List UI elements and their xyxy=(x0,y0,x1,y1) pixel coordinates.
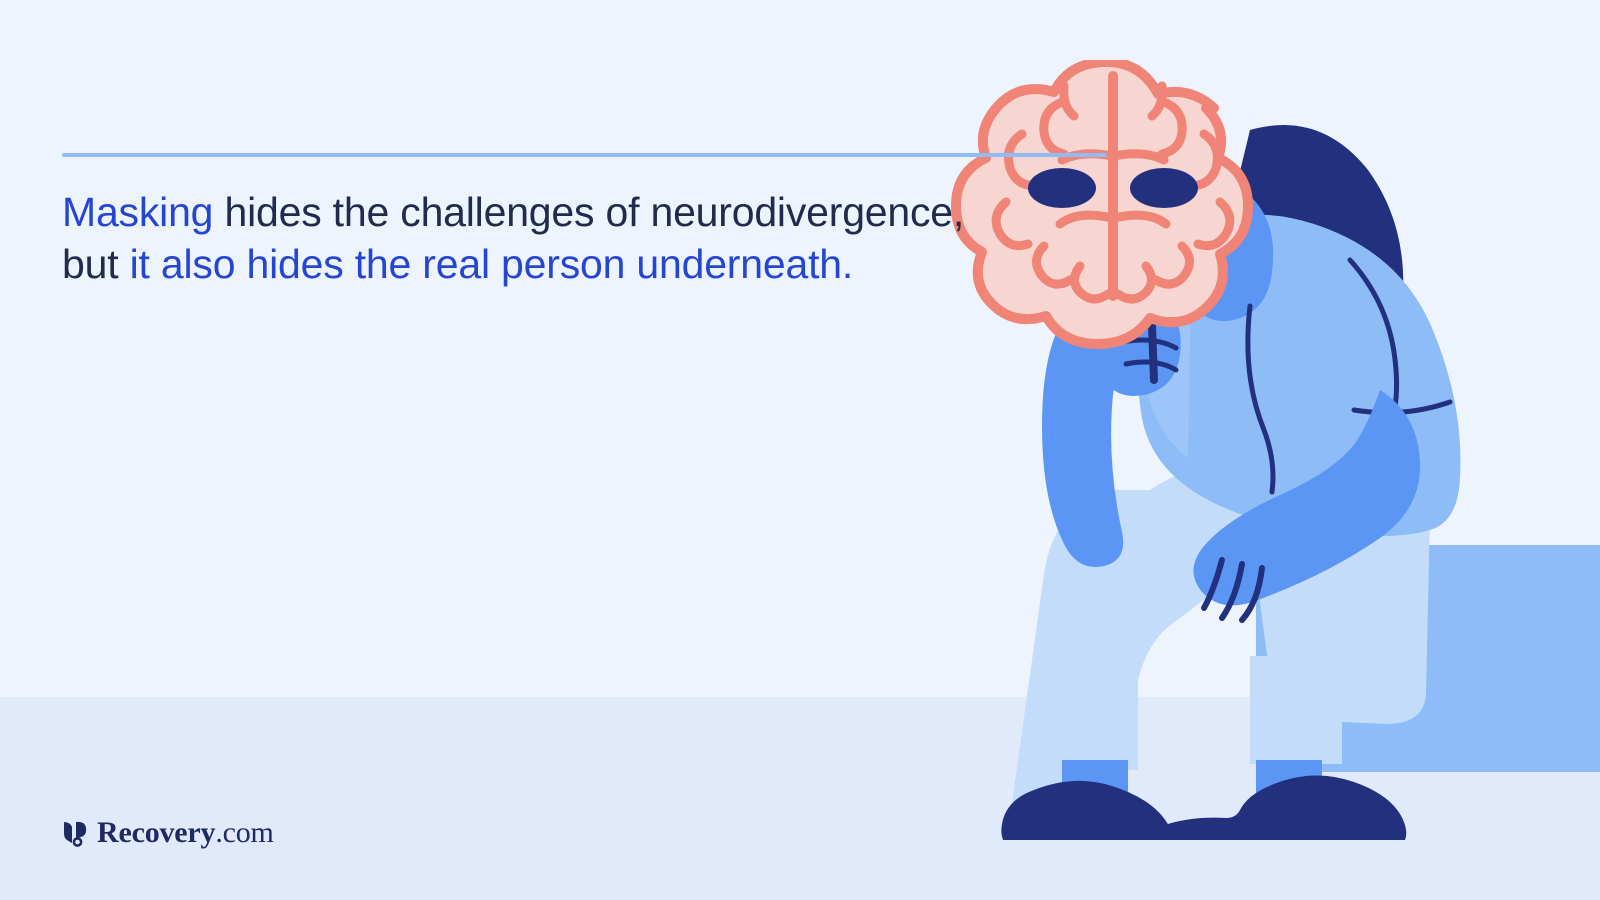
headline-accent-word: Masking xyxy=(62,189,213,235)
headline-accent-phrase: it also hides the real person underneath… xyxy=(130,241,853,287)
headline-accent-rule xyxy=(62,153,1107,157)
page-headline: Masking hides the challenges of neurodiv… xyxy=(62,186,1072,290)
headline-line-2-plain: but xyxy=(62,241,130,287)
recovery-brand-name: Recovery xyxy=(97,816,215,849)
recovery-leaf-mark-icon xyxy=(62,819,88,847)
headline-line-1-plain: hides the challenges of neurodivergence, xyxy=(213,189,964,235)
quote-card: Masking hides the challenges of neurodiv… xyxy=(0,0,1600,900)
recovery-tld: .com xyxy=(215,816,273,849)
illustration-person-with-brain-mask xyxy=(950,60,1600,840)
recovery-logo[interactable]: Recovery.com xyxy=(62,818,274,848)
recovery-logo-text: Recovery.com xyxy=(97,818,274,848)
